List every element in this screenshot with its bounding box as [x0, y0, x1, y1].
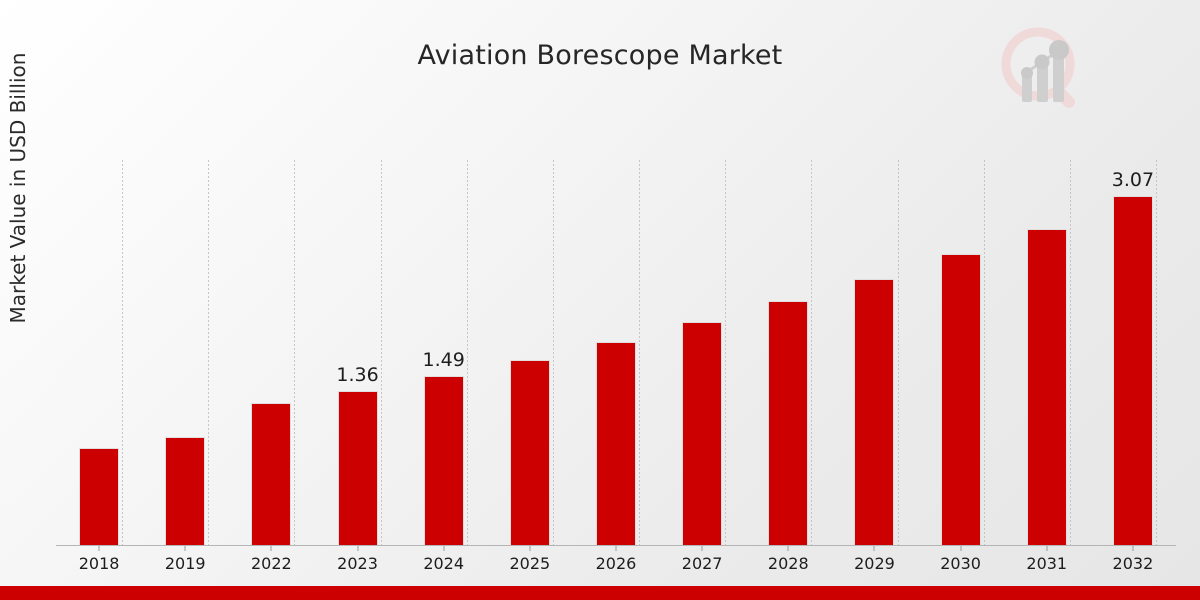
bar-group[interactable]: 2022: [228, 160, 314, 546]
bar[interactable]: [854, 279, 894, 546]
bar[interactable]: [941, 254, 981, 546]
x-axis-tick: [702, 546, 703, 551]
bar[interactable]: [1113, 196, 1153, 546]
x-axis-tick-label: 2031: [1026, 554, 1067, 573]
bar-value-label: 3.07: [1112, 169, 1154, 191]
bar-group[interactable]: 2019: [142, 160, 228, 546]
x-axis-tick: [788, 546, 789, 551]
bar[interactable]: [338, 391, 378, 546]
x-axis-tick: [185, 546, 186, 551]
bar-group[interactable]: 1.492024: [401, 160, 487, 546]
x-axis-tick-label: 2032: [1113, 554, 1154, 573]
x-axis-tick-label: 2025: [509, 554, 550, 573]
bar[interactable]: [596, 342, 636, 546]
x-axis-tick: [443, 546, 444, 551]
bar-group[interactable]: 2031: [1004, 160, 1090, 546]
x-axis-tick-label: 2027: [682, 554, 723, 573]
bar-group[interactable]: 2030: [918, 160, 1004, 546]
plot-area: 2018201920221.3620231.492024202520262027…: [56, 160, 1176, 546]
x-axis-tick: [1132, 546, 1133, 551]
bar-value-label: 1.36: [336, 364, 378, 386]
bar-group[interactable]: 1.362023: [314, 160, 400, 546]
bar[interactable]: [1027, 229, 1067, 546]
bar[interactable]: [251, 403, 291, 546]
x-axis-tick-label: 2022: [251, 554, 292, 573]
bar-group[interactable]: 2028: [745, 160, 831, 546]
x-axis-line: [56, 545, 1176, 546]
bar-value-label: 1.49: [423, 349, 465, 371]
x-axis-tick: [1046, 546, 1047, 551]
footer-band: [0, 586, 1200, 600]
x-axis-tick: [99, 546, 100, 551]
bar-group[interactable]: 2025: [487, 160, 573, 546]
bars-layer: 2018201920221.3620231.492024202520262027…: [56, 160, 1176, 546]
bar-group[interactable]: 2029: [831, 160, 917, 546]
x-axis-tick-label: 2028: [768, 554, 809, 573]
x-axis-tick-label: 2029: [854, 554, 895, 573]
x-axis-tick: [357, 546, 358, 551]
bar-group[interactable]: 2018: [56, 160, 142, 546]
chart-container: Aviation Borescope Market Market Value i…: [0, 0, 1200, 600]
x-axis-tick-label: 2019: [165, 554, 206, 573]
bar[interactable]: [165, 437, 205, 546]
x-axis-tick: [615, 546, 616, 551]
bar-group[interactable]: 2027: [659, 160, 745, 546]
bar-group[interactable]: 2026: [573, 160, 659, 546]
bar[interactable]: [768, 301, 808, 546]
x-axis-tick: [874, 546, 875, 551]
bar[interactable]: [79, 448, 119, 546]
y-axis-title: Market Value in USD Billion: [6, 0, 30, 378]
bar[interactable]: [682, 322, 722, 546]
x-axis-tick: [960, 546, 961, 551]
bar-group[interactable]: 3.072032: [1090, 160, 1176, 546]
x-axis-tick-label: 2023: [337, 554, 378, 573]
x-axis-tick-label: 2030: [940, 554, 981, 573]
magnifier-bar-chart-logo-icon: [996, 22, 1092, 118]
x-axis-tick-label: 2026: [596, 554, 637, 573]
x-axis-tick: [529, 546, 530, 551]
x-axis-tick: [271, 546, 272, 551]
x-axis-tick-label: 2024: [423, 554, 464, 573]
bar[interactable]: [424, 376, 464, 546]
x-axis-tick-label: 2018: [79, 554, 120, 573]
bar[interactable]: [510, 360, 550, 546]
